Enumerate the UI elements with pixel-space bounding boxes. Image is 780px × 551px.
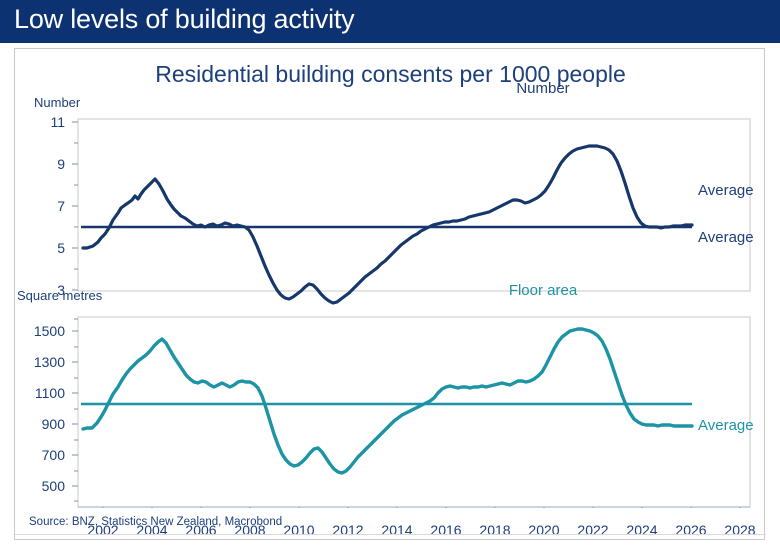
- top-y-ticks: [72, 122, 78, 290]
- xtick-2012: 2012: [332, 522, 363, 538]
- top-ytick-9: 9: [57, 156, 65, 172]
- bottom-ytick-1100: 1100: [35, 385, 65, 401]
- top-ytick-7: 7: [57, 198, 65, 214]
- chart-slide: Low levels of building activity Resident…: [0, 0, 780, 551]
- xtick-2020: 2020: [528, 522, 559, 538]
- chart-plot-area: 11 9 7 5 3 Number Average: [15, 63, 766, 508]
- chart-panel: Residential building consents per 1000 p…: [14, 48, 765, 540]
- x-axis: [78, 507, 750, 508]
- top-ytick-3: 3: [57, 282, 65, 298]
- top-series-annotation: Number: [516, 80, 569, 97]
- top-series-line: [83, 146, 692, 303]
- source-note: Source: BNZ, Statistics New Zealand, Mac…: [29, 516, 282, 528]
- top-chart: 11 9 7 5 3 Number Average: [50, 80, 753, 303]
- xtick-2028: 2028: [724, 522, 755, 538]
- bottom-ytick-1300: 1300: [34, 354, 65, 370]
- bottom-y-tick-labels: 1500 1300 1100 900 700 500: [34, 323, 65, 494]
- bottom-y-ticks: [72, 319, 78, 501]
- bottom-ytick-900: 900: [42, 416, 66, 432]
- xtick-2016: 2016: [430, 522, 461, 538]
- source-divider: [15, 534, 766, 535]
- bottom-ytick-500: 500: [42, 478, 66, 494]
- bottom-plot-frame: [78, 317, 750, 507]
- top-average-annotation: Average: [698, 182, 754, 199]
- top-ytick-11: 11: [50, 114, 65, 130]
- top-y-tick-labels: 11 9 7 5 3: [50, 114, 65, 298]
- top-ytick-5: 5: [57, 240, 65, 256]
- xtick-2018: 2018: [479, 522, 510, 538]
- bottom-series-annotation: Floor area: [509, 282, 578, 299]
- slide-title: Low levels of building activity: [14, 4, 354, 35]
- bottom-average-label: Average: [698, 417, 754, 434]
- xtick-2022: 2022: [577, 522, 608, 538]
- bottom-series-line: [83, 329, 692, 473]
- xtick-2026: 2026: [675, 522, 706, 538]
- xtick-2010: 2010: [283, 522, 314, 538]
- xtick-2024: 2024: [626, 522, 657, 538]
- slide-header-banner: Low levels of building activity: [0, 0, 780, 43]
- bottom-chart: 1500 1300 1100 900 700 500 Floor area: [34, 282, 750, 507]
- top-plot-frame: [78, 119, 750, 291]
- bottom-ytick-1500: 1500: [34, 323, 65, 339]
- xtick-2014: 2014: [381, 522, 412, 538]
- top-average-label: Average: [698, 229, 754, 246]
- bottom-ytick-700: 700: [42, 447, 66, 463]
